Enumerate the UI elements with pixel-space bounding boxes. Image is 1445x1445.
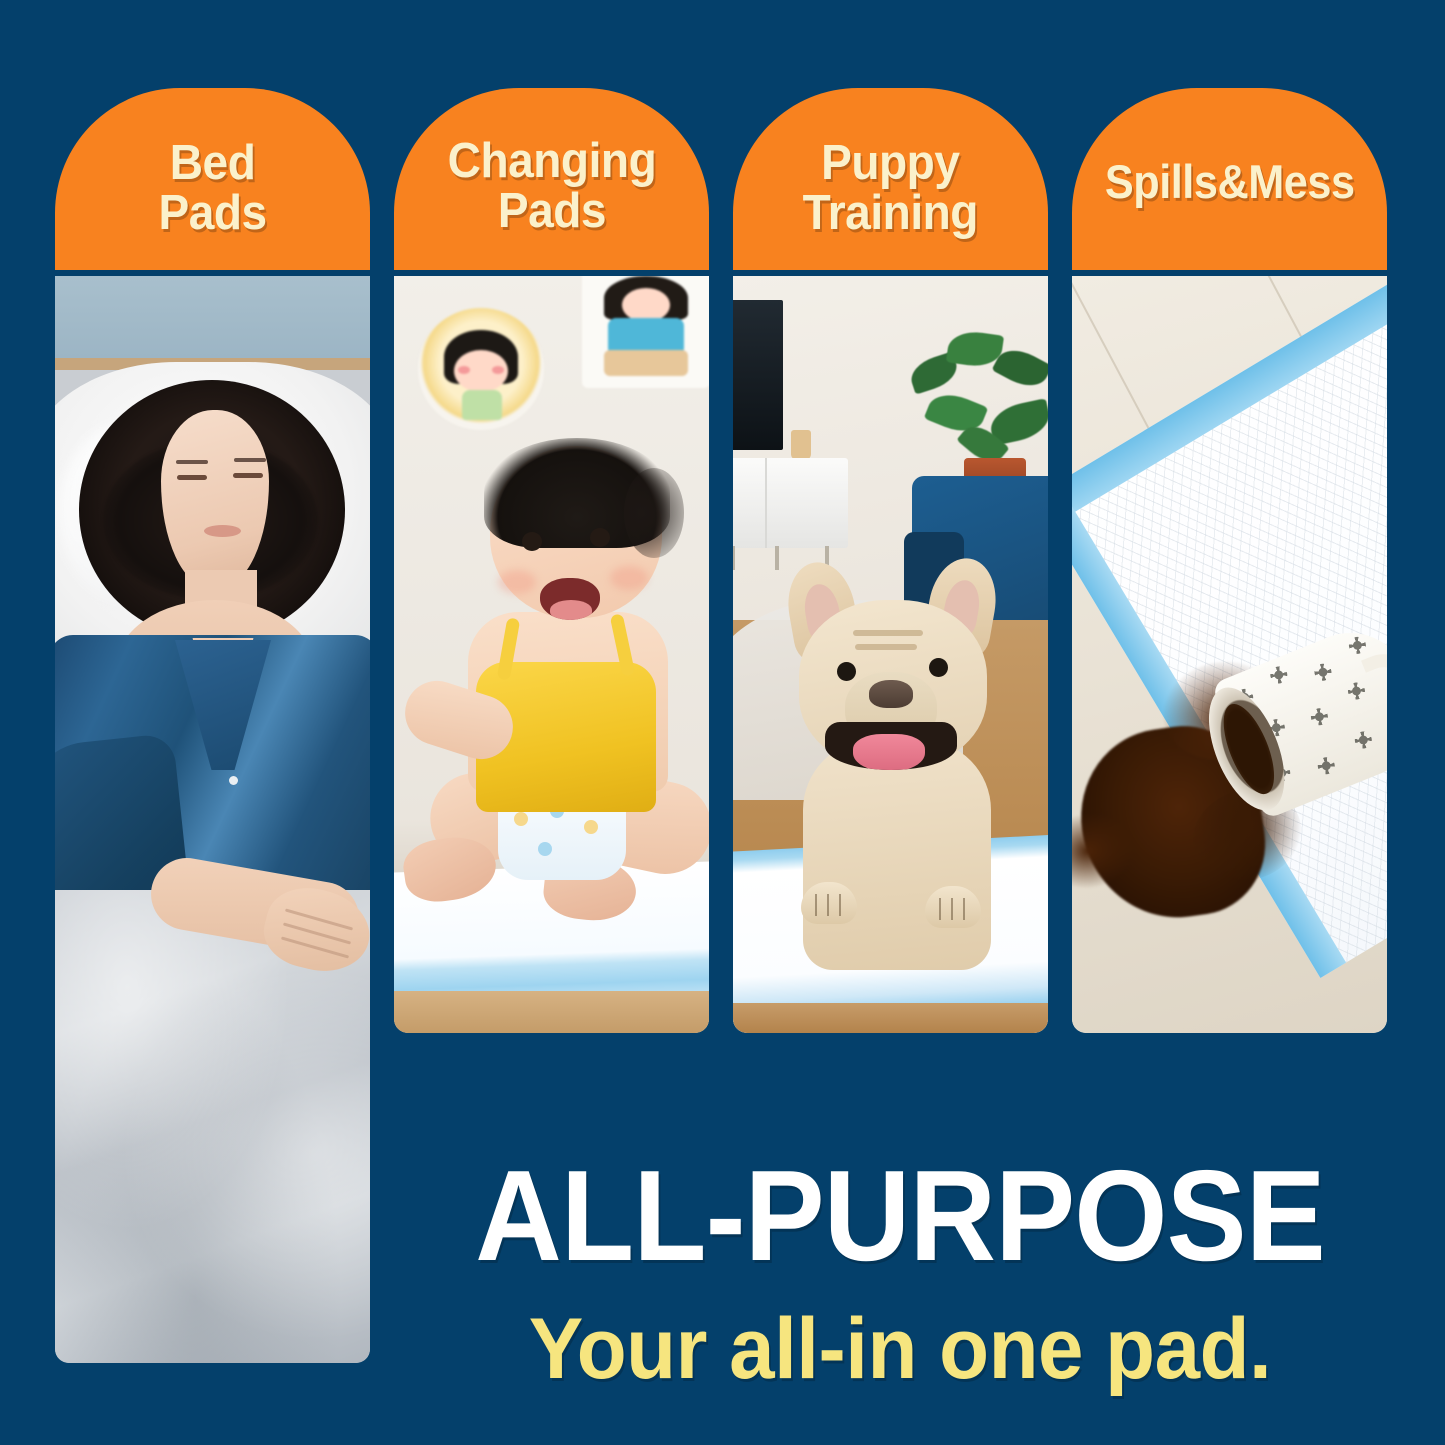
baby-eye-right	[590, 528, 610, 547]
card-label-bed-pads: BedPads	[155, 120, 271, 239]
card-divider	[55, 270, 370, 276]
fingers	[280, 910, 370, 968]
headline-block: ALL-PURPOSE Your all-in one pad.	[400, 1152, 1400, 1392]
dog-paw-left	[801, 882, 857, 924]
lips	[204, 525, 241, 537]
baby-cheek-right	[610, 566, 648, 590]
feature-card-changing-pads[interactable]: ChangingPads	[394, 88, 709, 1033]
house-plant	[904, 318, 1048, 468]
photo-dog-on-pad	[733, 270, 1048, 1033]
pajama-button	[229, 776, 238, 785]
card-label-changing-pads: ChangingPads	[443, 122, 659, 237]
dog-eye-left	[837, 662, 856, 681]
wall-poster-boy	[582, 270, 709, 388]
card-body-puppy-training	[733, 270, 1048, 1033]
headboard	[55, 270, 370, 365]
card-divider	[1072, 270, 1387, 276]
feature-card-bed-pads[interactable]: BedPads	[55, 88, 370, 1363]
dog-paw-right	[925, 886, 981, 928]
baby-cheek-left	[498, 570, 536, 594]
dog-body	[803, 740, 991, 970]
dog-eye-right	[929, 658, 948, 677]
television	[733, 300, 783, 450]
card-label-puppy-training: PuppyTraining	[799, 120, 982, 239]
card-divider	[394, 270, 709, 276]
card-body-changing-pads	[394, 270, 709, 1033]
card-header-spills-and-mess: Spills&Mess	[1072, 88, 1387, 270]
dog-wrinkle	[853, 630, 923, 636]
floor-bottom	[733, 1003, 1048, 1033]
wall-poster-girl	[418, 308, 544, 430]
headline-secondary: Your all-in one pad.	[425, 1306, 1375, 1392]
baby-mouth	[540, 578, 600, 620]
headline-primary: ALL-PURPOSE	[435, 1152, 1365, 1281]
feature-card-spills-and-mess[interactable]: Spills&Mess	[1072, 88, 1387, 1033]
card-body-spills-and-mess	[1072, 270, 1387, 1033]
baby-hair	[484, 438, 670, 548]
eyebrow-right	[234, 458, 266, 462]
eye-left	[177, 475, 207, 480]
baby-eye-left	[522, 532, 542, 551]
card-body-bed-pads	[55, 270, 370, 1363]
photo-woman-sleeping	[55, 270, 370, 1363]
feature-card-puppy-training[interactable]: PuppyTraining	[733, 88, 1048, 1033]
eye-right	[233, 473, 263, 478]
dog-mouth	[825, 722, 957, 770]
card-header-bed-pads: BedPads	[55, 88, 370, 270]
photo-baby-on-pad	[394, 270, 709, 1033]
card-header-puppy-training: PuppyTraining	[733, 88, 1048, 270]
dog-nose	[869, 680, 913, 708]
card-label-spills-and-mess: Spills&Mess	[1101, 152, 1358, 206]
eyebrow-left	[176, 460, 208, 464]
vase	[791, 430, 811, 460]
dog-wrinkle	[855, 644, 917, 650]
card-header-changing-pads: ChangingPads	[394, 88, 709, 270]
media-cabinet	[733, 458, 848, 548]
wood-floor	[394, 991, 709, 1033]
photo-coffee-spill	[1072, 270, 1387, 1033]
card-divider	[733, 270, 1048, 276]
